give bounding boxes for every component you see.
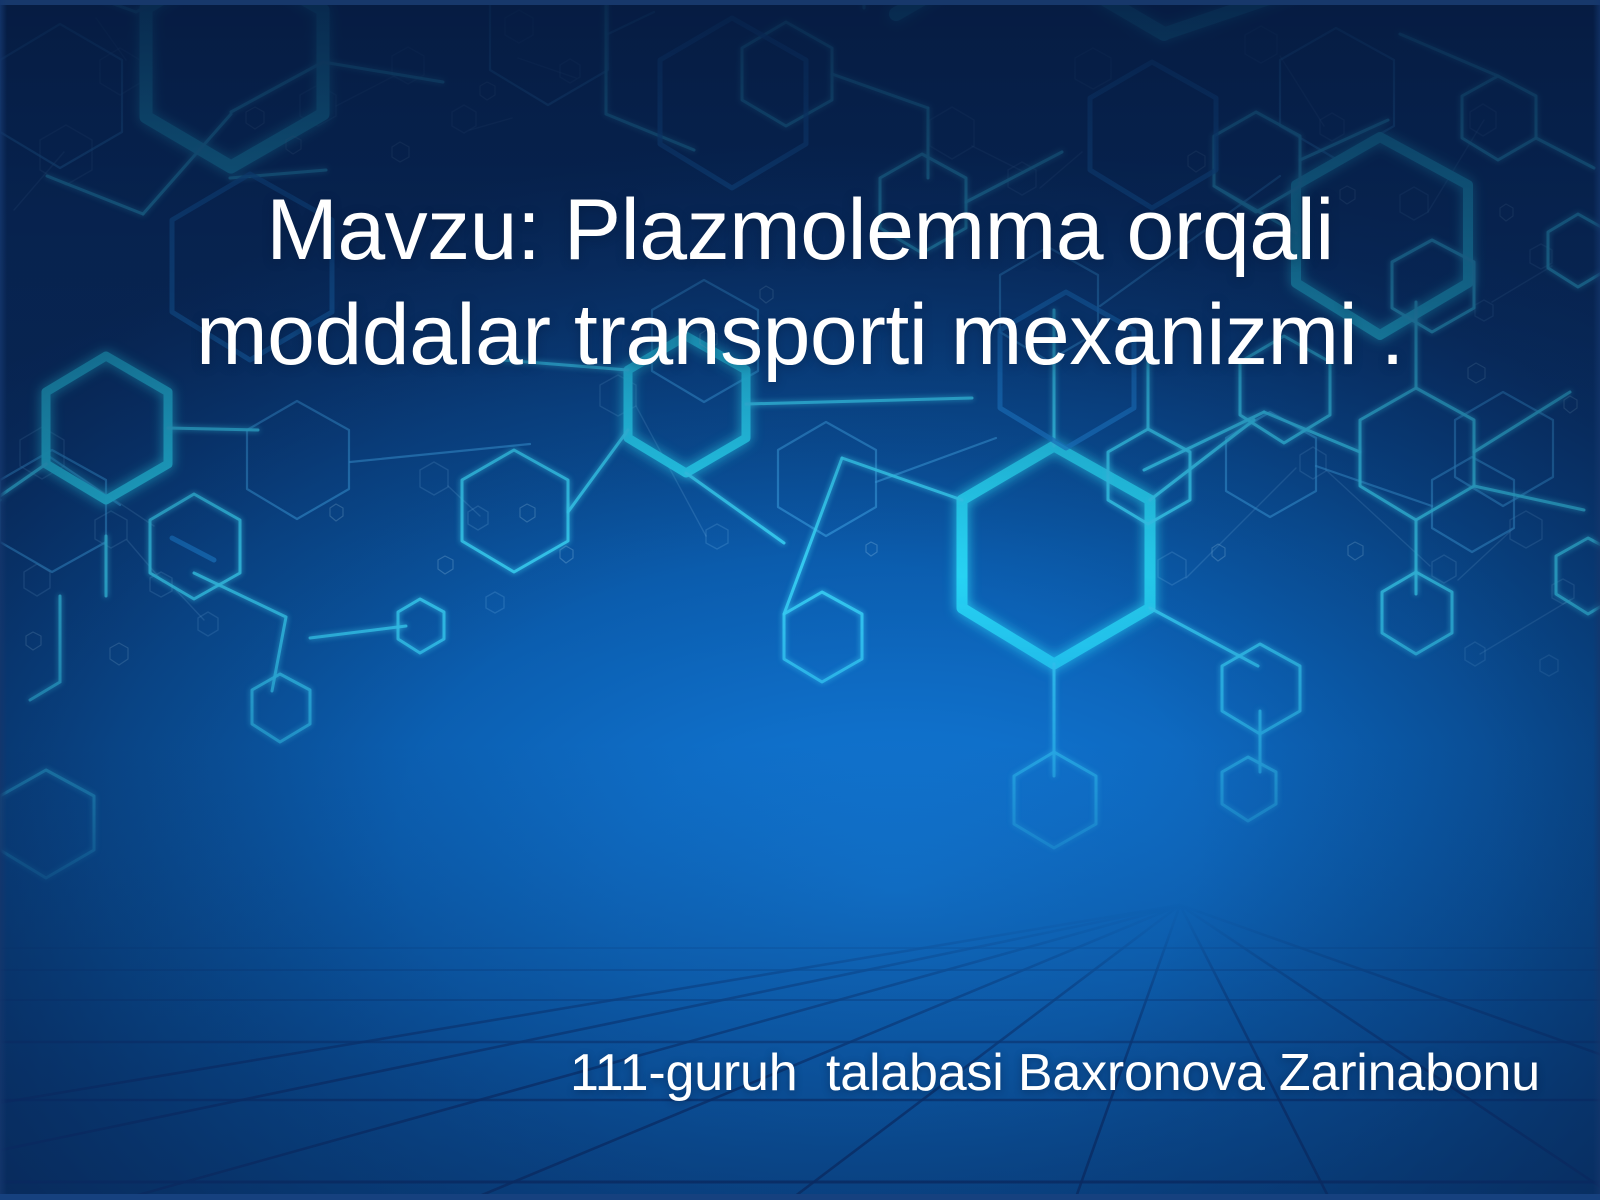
author-subtitle: 111-guruh talabasi Baxronova Zarinabonu xyxy=(200,1044,1540,1102)
page-title: Mavzu: Plazmolemma orqali moddalar trans… xyxy=(90,178,1510,388)
presentation-slide: Mavzu: Plazmolemma orqali moddalar trans… xyxy=(0,0,1600,1200)
slide-border-right xyxy=(1593,0,1600,1200)
slide-border-top xyxy=(0,0,1600,5)
slide-border-bottom xyxy=(0,1194,1600,1200)
slide-border-left xyxy=(0,0,7,1200)
